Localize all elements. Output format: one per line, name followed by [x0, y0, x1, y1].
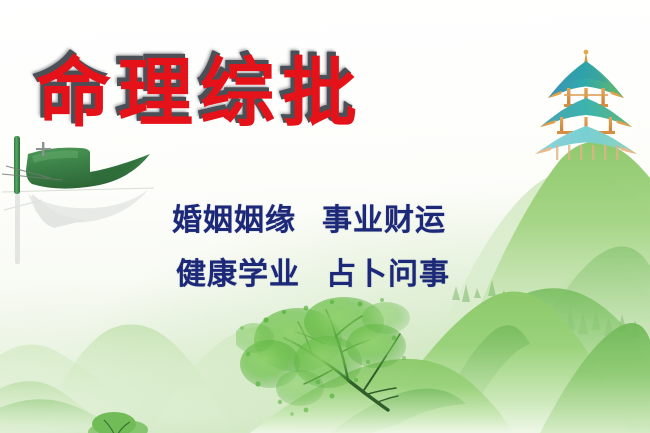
- boat-mast: [14, 136, 20, 194]
- boat-reflection: [4, 190, 148, 264]
- tree: [236, 292, 416, 422]
- pagoda-roof-bottom: [535, 126, 637, 154]
- water-line: [2, 188, 154, 192]
- boat: [2, 136, 154, 268]
- shrub: [86, 400, 156, 433]
- pagoda-base-pillars: [556, 145, 618, 160]
- poster-canvas: 命理综批 婚姻姻缘事业财运 健康学业占卜问事: [0, 0, 650, 433]
- pagoda: [528, 48, 644, 160]
